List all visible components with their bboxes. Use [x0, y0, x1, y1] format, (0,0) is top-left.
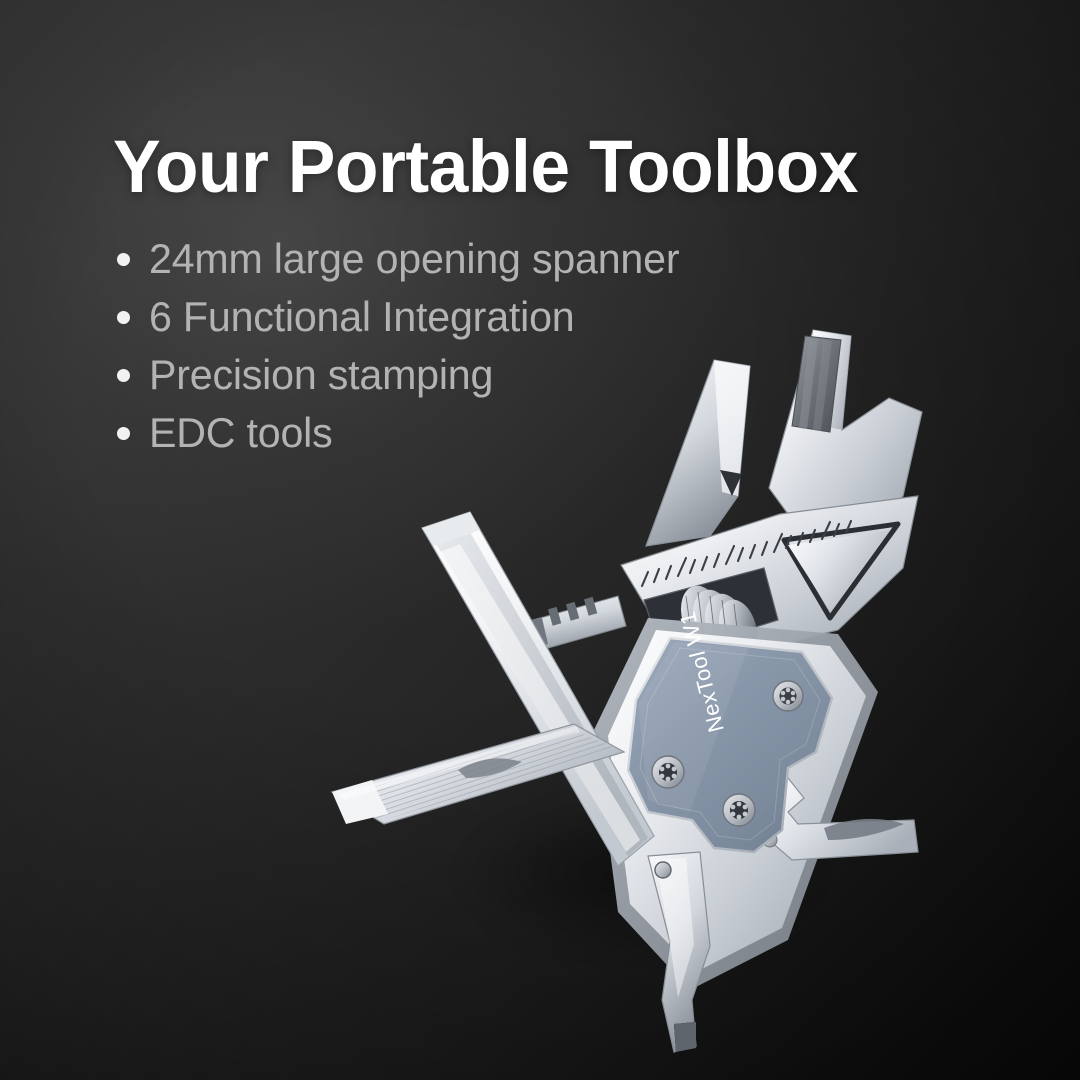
- bullet-dot-icon: [117, 369, 130, 382]
- list-item: Precision stamping: [113, 346, 973, 404]
- product-drop-shadow: [380, 760, 900, 990]
- bullet-dot-icon: [117, 427, 130, 440]
- feature-label: 24mm large opening spanner: [149, 238, 679, 280]
- feature-label: 6 Functional Integration: [149, 296, 574, 338]
- bullet-dot-icon: [117, 311, 130, 324]
- list-item: 6 Functional Integration: [113, 288, 973, 346]
- list-item: 24mm large opening spanner: [113, 230, 973, 288]
- feature-label: EDC tools: [149, 412, 333, 454]
- bullet-dot-icon: [117, 253, 130, 266]
- page-title: Your Portable Toolbox: [113, 130, 943, 204]
- list-item: EDC tools: [113, 404, 973, 462]
- feature-label: Precision stamping: [149, 354, 493, 396]
- copy-block: Your Portable Toolbox 24mm large opening…: [113, 130, 973, 462]
- promo-banner: NexTool W1 Your Portable Toolbox 24mm la…: [0, 0, 1080, 1080]
- feature-list: 24mm large opening spanner 6 Functional …: [113, 230, 973, 462]
